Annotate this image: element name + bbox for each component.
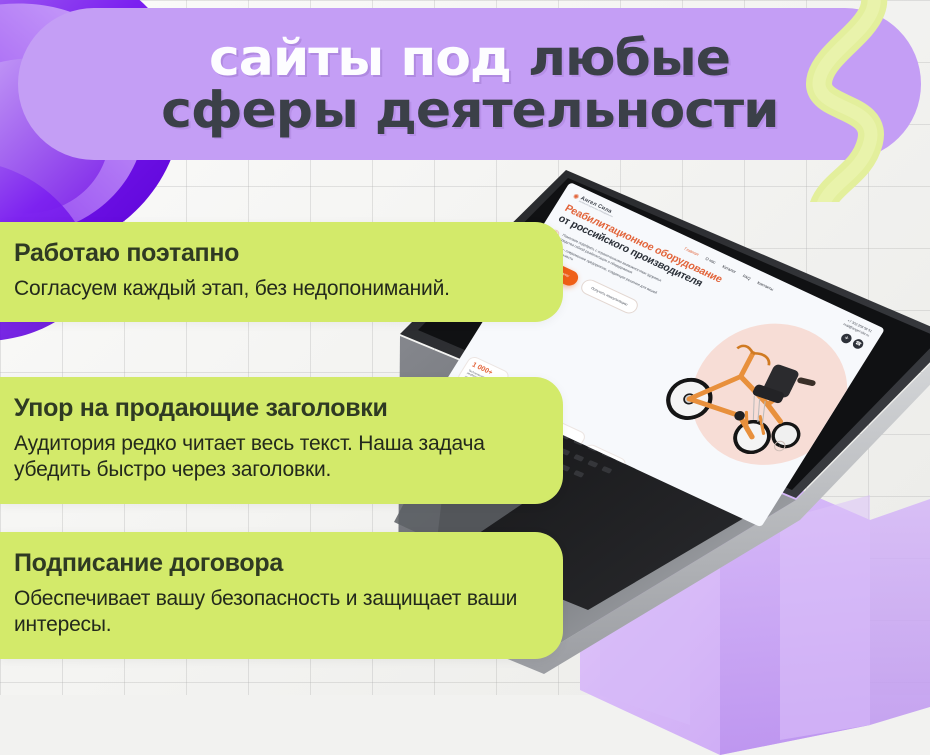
nav-item-home[interactable]: Главная [684,246,700,257]
feature-card-body: Аудитория редко читает весь текст. Наша … [14,431,533,484]
nav-item-faq[interactable]: FAQ [742,273,752,281]
feature-card-3: Подписание договора Обеспечивает вашу бе… [0,532,563,659]
banner-line-1: сайты под любые [209,33,730,83]
feature-card-body: Согласуем каждый этап, без недопониманий… [14,276,533,303]
banner-line-2: сферы деятельности [161,85,778,135]
feature-card-2: Упор на продающие заголовки Аудитория ре… [0,377,563,504]
feature-card-body: Обеспечивает вашу безопасность и защищае… [14,586,533,639]
banner-text-dark: любые [528,29,730,87]
feature-card-title: Подписание договора [14,550,533,578]
banner-text-dark-2: сферы деятельности [161,81,778,139]
nav-item-catalog[interactable]: Каталог [722,263,738,273]
feature-card-1: Работаю поэтапно Согласуем каждый этап, … [0,222,563,322]
feature-card-title: Работаю поэтапно [14,240,533,268]
feature-card-title: Упор на продающие заголовки [14,395,533,423]
nav-item-about[interactable]: О нас [705,256,717,265]
banner-text-white: сайты под [209,29,511,87]
